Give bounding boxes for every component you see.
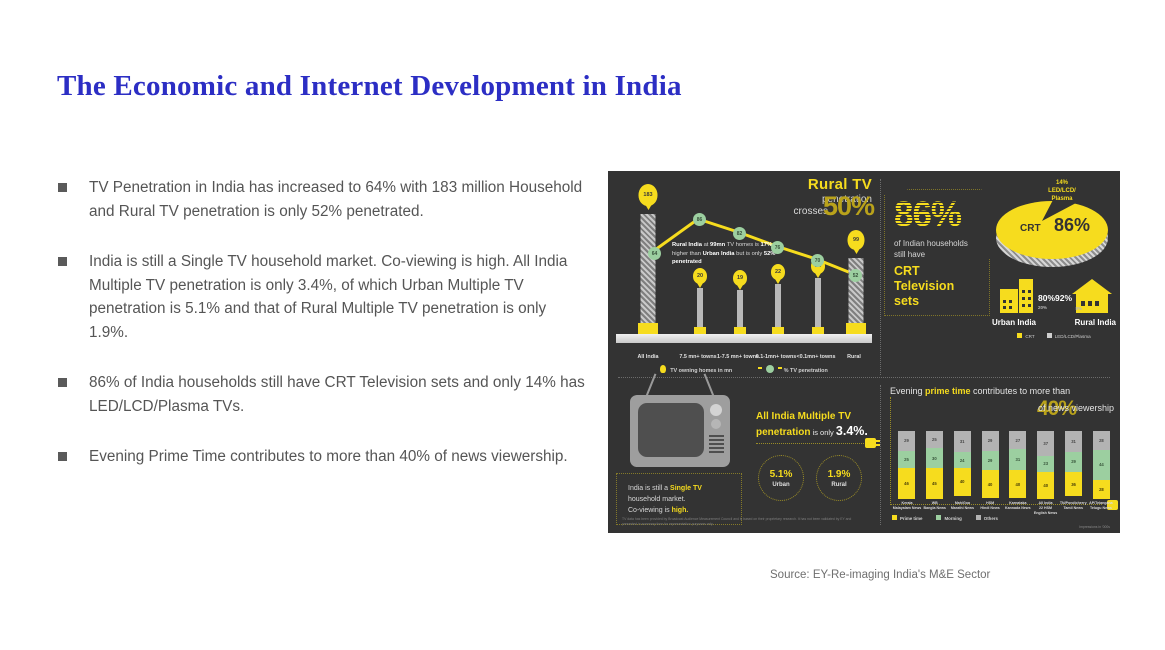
rural-led-pct: 8% (1075, 306, 1082, 311)
bullet-text: India is still a Single TV household mar… (89, 250, 588, 344)
urban-crt-pct: 80% (1038, 293, 1055, 303)
legend-tick-icon (778, 367, 782, 369)
legend-swatch-led (1047, 333, 1052, 338)
legend-dot-icon (766, 365, 774, 373)
bar-segment-morning: 29 (1065, 452, 1082, 472)
tv-knob-small (711, 419, 721, 429)
bar-segment-prime: 28 (1093, 480, 1110, 499)
pie-led-line2: LED/LCD/ (1038, 187, 1086, 195)
prime-time-head-3: of news viewership (1038, 403, 1114, 413)
tower-homes-value: 99 (848, 230, 865, 250)
legend-prime-time: Prime time (892, 515, 922, 521)
footnote: TV data has been provided by Broadcast A… (622, 517, 866, 527)
prime-time-panel: Evening prime time contributes to more t… (880, 377, 1120, 533)
pie-led-line3: Plasma (1038, 195, 1086, 203)
crt-panel: 86% of Indian households still have CRT … (880, 171, 1120, 377)
callout-rural-india: Rural India (672, 242, 702, 248)
crt-big-value: 86% (894, 197, 990, 232)
bar-axis-label: AP/TelanganaTelugu News (1086, 501, 1116, 516)
legend-balloon-icon (660, 365, 666, 373)
bar-segment-prime: 45 (926, 468, 943, 499)
bar-axis-labels: KeralaMalayalam News WBBangla News Mah/G… (898, 501, 1110, 516)
bullet-text: TV Penetration in India has increased to… (89, 176, 588, 223)
urban-caption: Urban India (992, 318, 1036, 327)
callout-t8: but is only (735, 251, 764, 257)
bullet-list: TV Penetration in India has increased to… (58, 176, 588, 496)
table-row: 29 29 40 (982, 431, 999, 499)
table-row: 31 24 40 (954, 431, 971, 499)
tower-legend: TV owning homes in mn % TV penetration (608, 365, 880, 374)
tv-screen (638, 403, 704, 457)
callout-99mn: 99mn (710, 242, 725, 248)
tower-homes-value: 22 (771, 264, 785, 280)
tv-caption: India is still a Single TV household mar… (628, 483, 738, 516)
rural-multiple-tv-circle: 1.9% Rural (816, 455, 862, 501)
tv-caption-single-tv: Single TV (670, 485, 702, 492)
tower-penetration-value: 86 (693, 213, 706, 226)
bar-segment-morning: 31 (1009, 449, 1026, 470)
rural-caption: Rural India (1075, 318, 1116, 327)
source-caption: Source: EY-Re-imaging India's M&E Sector (770, 569, 990, 581)
callout-urban-india: Urban India (703, 251, 735, 257)
stacked-bar-chart: 29 25 46 25 30 45 31 24 40 29 29 40 (898, 431, 1110, 499)
tv-caption-2: household market. (628, 496, 686, 503)
bar-axis-label: All India22 HSMEnglish News (1031, 501, 1061, 516)
table-row: 28 44 28 (1093, 431, 1110, 499)
bar-axis-label: KarnatakaKannada News (1003, 501, 1033, 516)
bar-segment-prime: 40 (1037, 472, 1054, 499)
tv-caption-high: high. (672, 507, 689, 514)
bar-segment-others: 29 (982, 431, 999, 451)
legend-prime-label: Prime time (900, 516, 922, 521)
bar-segment-others: 37 (1037, 431, 1054, 456)
bar-segment-others: 25 (926, 431, 943, 448)
tower-homes-value: 19 (733, 270, 747, 286)
mt-head-line1: All India Multiple TV (756, 411, 851, 422)
bar-segment-morning: 29 (982, 451, 999, 471)
tower-penetration-value: 52 (849, 269, 862, 282)
bar-segment-morning: 23 (1037, 456, 1054, 472)
multiple-tv-dotted-line (756, 443, 864, 444)
mt-head-line2: penetration (756, 427, 810, 438)
crt-strong-line1: CRT (894, 264, 990, 279)
bar-segment-morning: 30 (926, 448, 943, 468)
urban-multiple-label: Urban (772, 482, 789, 488)
bar-axis-label: KeralaMalayalam News (892, 501, 922, 516)
tower-callout: Rural India at 99mn TV homes is 17% high… (672, 241, 782, 267)
bar-segment-others: 31 (954, 431, 971, 452)
crt-legend-led: LED/LCD/Plasma (1047, 333, 1091, 339)
bar-segment-morning: 24 (954, 452, 971, 468)
tower-legend-homes-label: TV owning homes in mn (670, 368, 732, 374)
list-item: Evening Prime Time contributes to more t… (58, 445, 588, 469)
urban-multiple-tv-circle: 5.1% Urban (758, 455, 804, 501)
list-item: TV Penetration in India has increased to… (58, 176, 588, 223)
legend-others: Others (976, 515, 998, 521)
crt-text-block: 86% of Indian households still have CRT … (894, 197, 990, 309)
legend-swatch-morning (936, 515, 941, 520)
tower-legend-penetration: % TV penetration (758, 365, 828, 374)
slide: The Economic and Internet Development in… (0, 0, 1165, 650)
callout-t2: at (702, 242, 710, 248)
legend-swatch-prime (892, 515, 897, 520)
tower-homes-value: 20 (693, 268, 707, 284)
crt-legend-crt: CRT (1017, 333, 1034, 339)
crt-sub-line2: still have (894, 249, 990, 260)
crt-strong-line3: sets (894, 294, 990, 309)
pie-crt-label: CRT (1020, 223, 1041, 234)
crt-pie-chart: CRT 86% 14% LED/LCD/ Plasma (992, 183, 1112, 275)
table-row: 37 23 40 (1037, 431, 1054, 499)
bar-segment-others: 28 (1093, 431, 1110, 450)
legend-swatch-others (976, 515, 981, 520)
tower-axis-label: All India (622, 354, 674, 361)
callout-t4: TV homes is (725, 242, 760, 248)
tower-legend-homes: TV owning homes in mn (660, 365, 732, 374)
bullet-square-icon (58, 183, 67, 192)
tower-axis-label: Rural (828, 354, 880, 361)
bar-axis-dashed-left (890, 397, 891, 505)
pt-head-bold: prime time (925, 386, 971, 396)
tower-penetration-value: 70 (811, 254, 824, 267)
table-row: 27 31 40 (1009, 431, 1026, 499)
tower-penetration-value: 76 (771, 241, 784, 254)
tv-caption-3: Co-viewing is (628, 507, 672, 514)
bullet-square-icon (58, 452, 67, 461)
crt-strong-line2: Television (894, 279, 990, 294)
crt-legend: CRT LED/LCD/Plasma (992, 333, 1116, 339)
impressions-note: Impressions in '000s (1079, 525, 1110, 529)
bullet-text: 86% of India households still have CRT T… (89, 371, 588, 418)
prime-time-legend: Prime time Morning Others (892, 515, 998, 521)
pt-head-2: contributes to more than (971, 386, 1071, 396)
bar-axis-label: WBBangla News (920, 501, 950, 516)
legend-morning-label: Morning (944, 516, 961, 521)
pt-head-1: Evening (890, 386, 925, 396)
tv-caption-1: India is still a (628, 485, 670, 492)
plug-icon (865, 438, 876, 448)
bar-axis-label: TN/PondicherryTamil News (1058, 501, 1088, 516)
bar-segment-others: 27 (1009, 431, 1026, 449)
bar-segment-prime: 46 (898, 468, 915, 499)
pie-led-pct: 14% (1038, 179, 1086, 187)
urban-led-pct: 20% (1038, 305, 1047, 310)
crt-legend-led-label: LED/LCD/Plasma (1055, 334, 1091, 339)
tv-body (630, 395, 730, 467)
tv-antenna-icon (650, 377, 710, 397)
rural-crt-pct: 92% (1055, 293, 1072, 303)
bar-segment-morning: 25 (898, 451, 915, 468)
tower-chart: Rural TV penetration crosses 50% Rural I… (608, 171, 880, 377)
mt-head-isonly: is only (810, 428, 835, 437)
urban-rural-icons: 80% 20% 92% 8% Urban India Rural India C… (992, 279, 1116, 327)
list-item: India is still a Single TV household mar… (58, 250, 588, 344)
crt-legend-crt-label: CRT (1025, 334, 1034, 339)
bar-segment-others: 31 (1065, 431, 1082, 452)
infographic: Rural TV penetration crosses 50% Rural I… (608, 171, 1120, 533)
legend-tick-icon (758, 367, 762, 369)
multiple-tv-headline: All India Multiple TV penetration is onl… (756, 409, 872, 440)
tv-knob-large (710, 404, 722, 416)
bar-segment-others: 29 (898, 431, 915, 451)
tower-penetration-value: 82 (733, 227, 746, 240)
bar-segment-prime: 40 (954, 468, 971, 495)
rural-multiple-value: 1.9% (828, 469, 851, 480)
bar-segment-prime: 40 (1009, 470, 1026, 497)
pie-crt-value: 86% (1054, 215, 1090, 236)
legend-swatch-crt (1017, 333, 1022, 338)
mt-head-value: 3.4%. (836, 424, 868, 438)
ground-line (616, 334, 872, 343)
page-title: The Economic and Internet Development in… (57, 70, 682, 103)
list-item: 86% of India households still have CRT T… (58, 371, 588, 418)
bar-axis-label: Mah/GoaMarathi News (947, 501, 977, 516)
tower-homes-value: 183 (639, 184, 658, 206)
tv-speaker-grill (709, 433, 724, 453)
callout-t6: higher than (672, 251, 703, 257)
table-row: 25 30 45 (926, 431, 943, 499)
multiple-tv-panel: India is still a Single TV household mar… (608, 377, 880, 533)
tower-penetration-value: 64 (648, 247, 661, 260)
urban-multiple-value: 5.1% (770, 469, 793, 480)
legend-morning: Morning (936, 515, 961, 521)
rural-multiple-label: Rural (831, 482, 846, 488)
tv-icon (630, 395, 730, 473)
table-row: 31 29 36 (1065, 431, 1082, 499)
bullet-square-icon (58, 257, 67, 266)
bar-segment-prime: 40 (982, 470, 999, 497)
legend-others-label: Others (984, 516, 998, 521)
table-row: 29 25 46 (898, 431, 915, 499)
tower-legend-penetration-label: % TV penetration (784, 368, 828, 374)
bar-segment-prime: 36 (1065, 472, 1082, 496)
prime-time-headline: Evening prime time contributes to more t… (890, 385, 1112, 398)
bullet-square-icon (58, 378, 67, 387)
bullet-text: Evening Prime Time contributes to more t… (89, 445, 568, 469)
pie-led-label: 14% LED/LCD/ Plasma (1038, 179, 1086, 203)
bar-axis-label: HSMHindi News (975, 501, 1005, 516)
bar-segment-morning: 44 (1093, 450, 1110, 480)
crt-sub-line1: of Indian households (894, 238, 990, 249)
